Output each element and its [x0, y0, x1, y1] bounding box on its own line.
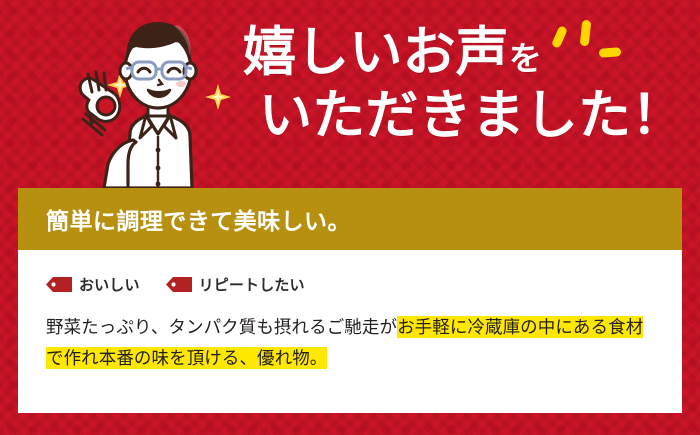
sparkle-right — [205, 84, 231, 110]
review-body-text: 野菜たっぷり、タンパク質も摂れるご馳走がお手軽に冷蔵庫の中にある食材で作れ本番の… — [46, 312, 656, 373]
review-card-body: おいしい リピートしたい 野菜たっぷり、タンパク質も摂れるご馳走がお手軽に冷蔵庫… — [18, 250, 682, 373]
headline: 嬉しいお声を いただきました！ — [243, 26, 663, 142]
headline-line-2: いただきました！ — [243, 89, 663, 142]
headline-line-1-main: 嬉しいお声 — [243, 21, 509, 83]
review-headline: 簡単に調理できて美味しい。 — [46, 202, 351, 236]
review-tag-repeat: リピートしたい — [166, 274, 305, 295]
review-tag-label: おいしい — [79, 274, 140, 295]
review-card-header: 簡単に調理できて美味しい。 — [18, 188, 682, 250]
headline-line-1: 嬉しいお声を — [243, 26, 663, 79]
smiling-man-ok-gesture-illustration — [78, 14, 238, 188]
review-card: 簡単に調理できて美味しい。 おいしい リピートしたい — [18, 188, 682, 413]
testimonial-banner: 嬉しいお声を いただきました！ 簡単に調理できて美味しい。 おいしい — [0, 0, 700, 435]
review-tag-list: おいしい リピートしたい — [46, 274, 656, 295]
tag-icon — [46, 277, 72, 292]
headline-line-1-particle: を — [509, 39, 542, 78]
review-tag-oishii: おいしい — [46, 274, 140, 295]
review-tag-label: リピートしたい — [199, 274, 305, 295]
tag-icon — [166, 277, 192, 292]
review-text-plain: 野菜たっぷり、タンパク質も摂れるご馳走が — [46, 317, 397, 337]
